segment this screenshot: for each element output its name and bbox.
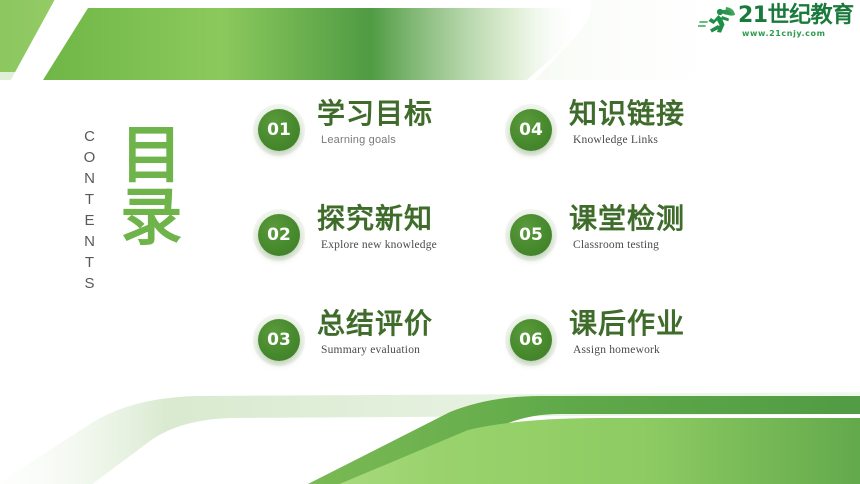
item-subtitle: Knowledge Links — [573, 134, 685, 146]
contents-item-01[interactable]: 01 学习目标 Learning goals — [258, 97, 510, 202]
contents-item-06[interactable]: 06 课后作业 Assign homework — [510, 307, 762, 387]
contents-heading: CONTENTS 目录 — [76, 128, 196, 328]
brand-logo[interactable]: 21世纪教育 www.21cnjy.com — [698, 5, 848, 41]
running-person-icon — [698, 5, 738, 35]
item-number-badge: 04 — [510, 109, 552, 151]
contents-item-04[interactable]: 04 知识链接 Knowledge Links — [510, 97, 762, 202]
item-title: 总结评价 — [317, 307, 433, 340]
contents-item-02[interactable]: 02 探究新知 Explore new knowledge — [258, 202, 510, 307]
item-text-block: 总结评价 Summary evaluation — [317, 307, 433, 356]
contents-item-grid: 01 学习目标 Learning goals 04 知识链接 Knowledge… — [258, 97, 778, 387]
item-subtitle: Explore new knowledge — [321, 239, 437, 251]
logo-name: 21世纪教育 — [738, 5, 854, 27]
logo-url: www.21cnjy.com — [742, 29, 826, 38]
slide-canvas: CONTENTS 目录 01 学习目标 Learning goals 04 知识… — [0, 0, 860, 484]
contents-english-label: CONTENTS — [82, 128, 97, 296]
item-title: 课堂检测 — [569, 202, 685, 235]
item-title: 学习目标 — [317, 97, 433, 130]
bottom-decoration — [0, 388, 860, 484]
contents-item-05[interactable]: 05 课堂检测 Classroom testing — [510, 202, 762, 307]
item-title: 课后作业 — [569, 307, 685, 340]
item-text-block: 知识链接 Knowledge Links — [569, 97, 685, 146]
item-number-badge: 03 — [258, 319, 300, 361]
item-title: 知识链接 — [569, 97, 685, 130]
item-subtitle: Assign homework — [573, 344, 685, 356]
contents-item-03[interactable]: 03 总结评价 Summary evaluation — [258, 307, 510, 387]
item-number-badge: 05 — [510, 214, 552, 256]
item-number-badge: 06 — [510, 319, 552, 361]
item-number-badge: 01 — [258, 109, 300, 151]
item-text-block: 学习目标 Learning goals — [317, 97, 433, 146]
item-subtitle: Summary evaluation — [321, 344, 433, 356]
item-title: 探究新知 — [317, 202, 437, 235]
item-text-block: 课堂检测 Classroom testing — [569, 202, 685, 251]
contents-chinese-label: 目录 — [114, 122, 177, 246]
item-subtitle: Classroom testing — [573, 239, 685, 251]
item-number-badge: 02 — [258, 214, 300, 256]
item-text-block: 课后作业 Assign homework — [569, 307, 685, 356]
item-subtitle: Learning goals — [321, 134, 433, 146]
item-text-block: 探究新知 Explore new knowledge — [317, 202, 437, 251]
